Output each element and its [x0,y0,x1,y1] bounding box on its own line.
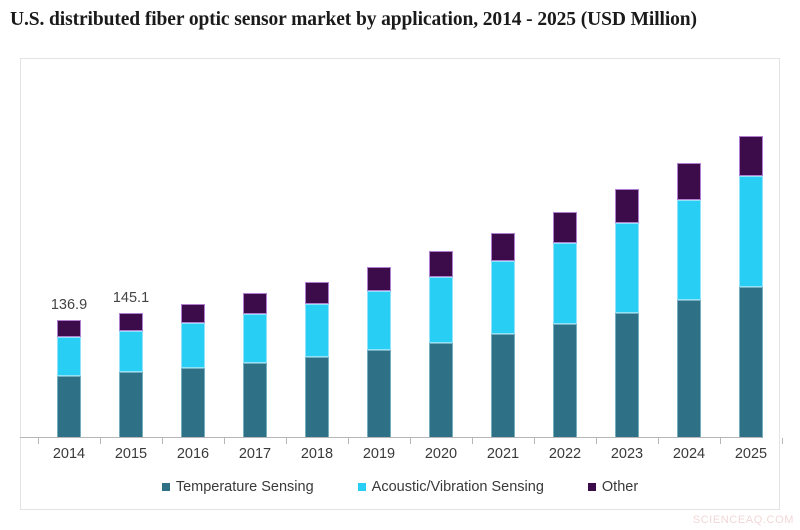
bar-segment-other-2017[interactable] [243,293,267,314]
bar-segment-temperature-sensing-2023[interactable] [615,313,639,438]
bar-segment-other-2019[interactable] [367,267,391,291]
bar-group-2022[interactable] [553,58,577,438]
x-axis-tick [162,438,163,444]
bar-segment-acoustic-vibration-sensing-2017[interactable] [243,314,267,363]
bar-segment-acoustic-vibration-sensing-2016[interactable] [181,323,205,368]
x-axis-tick [224,438,225,444]
bar-group-2023[interactable] [615,58,639,438]
bar-segment-temperature-sensing-2017[interactable] [243,363,267,438]
x-axis-tick [534,438,535,444]
bar-segment-temperature-sensing-2018[interactable] [305,357,329,438]
legend-item-label: Acoustic/Vibration Sensing [372,479,544,495]
bar-group-2019[interactable] [367,58,391,438]
bar-segment-acoustic-vibration-sensing-2025[interactable] [739,176,763,287]
bar-group-2025[interactable] [739,58,763,438]
bar-segment-other-2016[interactable] [181,304,205,323]
x-axis-labels: 2014201520162017201820192020202120222023… [20,446,780,468]
x-axis-label-2020: 2020 [410,446,472,462]
bar-segment-other-2023[interactable] [615,189,639,223]
x-axis-label-2014: 2014 [38,446,100,462]
bar-segment-other-2025[interactable] [739,136,763,176]
bar-stack [429,251,453,438]
bar-stack [119,313,143,438]
bar-segment-temperature-sensing-2015[interactable] [119,372,143,438]
bar-group-2018[interactable] [305,58,329,438]
x-axis-label-2017: 2017 [224,446,286,462]
bar-segment-acoustic-vibration-sensing-2024[interactable] [677,200,701,300]
bar-stack [739,136,763,438]
legend-swatch-icon [588,483,596,491]
chart-title: U.S. distributed fiber optic sensor mark… [10,9,792,31]
bar-segment-acoustic-vibration-sensing-2022[interactable] [553,243,577,324]
x-axis-label-2018: 2018 [286,446,348,462]
bar-segment-temperature-sensing-2021[interactable] [491,334,515,438]
bar-segment-temperature-sensing-2014[interactable] [57,376,81,438]
bar-group-2017[interactable] [243,58,267,438]
bar-segment-acoustic-vibration-sensing-2014[interactable] [57,337,81,376]
bar-segment-temperature-sensing-2022[interactable] [553,324,577,438]
x-axis-tick [720,438,721,444]
bar-segment-other-2022[interactable] [553,212,577,243]
x-axis-tick [38,438,39,444]
bar-segment-other-2018[interactable] [305,282,329,304]
bar-segment-acoustic-vibration-sensing-2021[interactable] [491,261,515,334]
bar-segment-acoustic-vibration-sensing-2023[interactable] [615,223,639,313]
bar-segment-acoustic-vibration-sensing-2020[interactable] [429,277,453,343]
x-axis-label-2021: 2021 [472,446,534,462]
bar-group-2021[interactable] [491,58,515,438]
bar-segment-other-2024[interactable] [677,163,701,200]
bar-segment-acoustic-vibration-sensing-2019[interactable] [367,291,391,350]
bar-segment-temperature-sensing-2020[interactable] [429,343,453,438]
bar-stack [305,282,329,438]
bar-stack [367,267,391,438]
legend-item-other[interactable]: Other [588,479,638,495]
bar-segment-temperature-sensing-2019[interactable] [367,350,391,438]
chart-legend: Temperature SensingAcoustic/Vibration Se… [20,479,780,495]
bar-segment-other-2021[interactable] [491,233,515,261]
x-axis-tick [348,438,349,444]
bar-group-2024[interactable] [677,58,701,438]
x-axis-label-2016: 2016 [162,446,224,462]
bar-stack [615,189,639,438]
watermark: SCIENCEAQ.COM [693,514,794,526]
x-axis-label-2015: 2015 [100,446,162,462]
x-axis-label-2022: 2022 [534,446,596,462]
bar-segment-other-2014[interactable] [57,320,81,337]
bar-stack [243,293,267,438]
x-axis-line [20,437,762,438]
bar-stack [57,320,81,438]
bar-stack [677,163,701,438]
plot-area: 136.9145.1 [20,58,780,438]
bar-segment-other-2020[interactable] [429,251,453,277]
bar-group-2015[interactable] [119,58,143,438]
bar-value-label-2014: 136.9 [34,297,104,313]
bar-group-2014[interactable] [57,58,81,438]
bar-segment-temperature-sensing-2024[interactable] [677,300,701,438]
legend-item-acoustic-vibration-sensing[interactable]: Acoustic/Vibration Sensing [358,479,544,495]
bar-value-label-2015: 145.1 [96,290,166,306]
x-axis-tick [286,438,287,444]
x-axis-tick [658,438,659,444]
x-axis-label-2025: 2025 [720,446,782,462]
x-axis-tick [472,438,473,444]
bar-segment-acoustic-vibration-sensing-2015[interactable] [119,331,143,372]
bar-group-2020[interactable] [429,58,453,438]
bar-segment-acoustic-vibration-sensing-2018[interactable] [305,304,329,357]
legend-item-label: Other [602,479,638,495]
bar-stack [181,304,205,438]
bar-stack [491,233,515,438]
x-axis-tick [410,438,411,444]
x-axis-label-2024: 2024 [658,446,720,462]
x-axis-label-2019: 2019 [348,446,410,462]
x-axis-tick [782,438,783,444]
legend-item-temperature-sensing[interactable]: Temperature Sensing [162,479,314,495]
bar-group-2016[interactable] [181,58,205,438]
x-axis-tick [100,438,101,444]
legend-swatch-icon [162,483,170,491]
bar-segment-temperature-sensing-2016[interactable] [181,368,205,438]
x-axis-tick [596,438,597,444]
legend-item-label: Temperature Sensing [176,479,314,495]
bar-stack [553,212,577,438]
bar-segment-temperature-sensing-2025[interactable] [739,287,763,438]
bar-segment-other-2015[interactable] [119,313,143,331]
x-axis-label-2023: 2023 [596,446,658,462]
legend-swatch-icon [358,483,366,491]
